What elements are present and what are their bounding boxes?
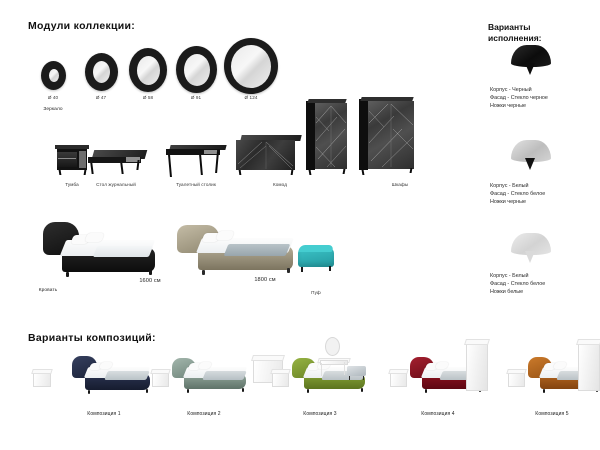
label-coffee-table: Стол журнальный <box>96 182 136 187</box>
label-pouf: Пуф <box>311 290 321 295</box>
comp3-label: Композиция 3 <box>303 411 336 417</box>
label-dresser: Комод <box>273 182 287 187</box>
page-title-modules: Модули коллекции: <box>28 20 135 32</box>
mirror-124 <box>224 38 278 94</box>
page-title-compositions: Варианты композиций: <box>28 332 156 344</box>
catalog-page: Модули коллекции: Ø 40 Ø 47 Ø 58 Ø 91 Ø … <box>0 0 600 450</box>
finishes-title-line1: Варианты <box>488 22 596 33</box>
finish-swatch-3-icon <box>508 233 554 267</box>
comp1-label: Композиция 1 <box>87 411 120 417</box>
finishes-title: Варианты исполнения: <box>488 22 596 43</box>
label-vanity: Туалетный столик <box>176 182 216 187</box>
comp4-label: Композиция 4 <box>421 411 454 417</box>
mirror-label-124: Ø 124 <box>244 95 257 100</box>
wardrobe2-glass-pattern-icon <box>368 101 414 169</box>
comp5-wardrobe-icon <box>578 342 600 391</box>
mirror-label-58: Ø 58 <box>143 95 153 100</box>
comp5-label: Композиция 5 <box>535 411 568 417</box>
mirror-91 <box>176 46 217 93</box>
mirror-label-40: Ø 40 <box>48 95 58 100</box>
finish-3-line3: Ножки белые <box>490 288 523 296</box>
comp3-bench-icon <box>347 366 366 376</box>
comp3-mirror-icon <box>325 337 340 356</box>
bed-group-label: Кровать <box>39 288 58 293</box>
label-wardrobes: Шкафы <box>392 182 408 187</box>
comp5-nightstand-icon <box>508 372 525 387</box>
comp4-wardrobe-icon <box>466 342 488 391</box>
finish-2-line3: Ножки черные <box>490 198 526 206</box>
bed-1800-size: 1800 см <box>254 277 275 283</box>
wardrobe-glass-pattern-icon <box>315 103 347 169</box>
mirror-47 <box>85 53 118 91</box>
comp4-nightstand-icon <box>390 372 407 387</box>
comp3-nightstand-icon <box>272 372 289 387</box>
mirror-40 <box>41 61 66 90</box>
mirror-58 <box>129 48 167 92</box>
mirror-label-91: Ø 91 <box>191 95 201 100</box>
bed-1600-size: 1600 см <box>139 278 160 284</box>
comp2-label: Композиция 2 <box>187 411 220 417</box>
mirror-group-label: Зеркало <box>43 107 62 112</box>
mirror-label-47: Ø 47 <box>96 95 106 100</box>
finish-1-line3: Ножки черные <box>490 102 526 110</box>
finishes-title-line2: исполнения: <box>488 33 596 44</box>
comp1-nightstand-icon <box>33 372 51 387</box>
comp2-nightstand-icon <box>152 372 169 387</box>
finish-swatch-2-icon <box>508 140 554 174</box>
dresser-pattern-icon <box>236 140 295 170</box>
label-nightstand: Тумба <box>65 182 78 187</box>
finish-swatch-1-icon <box>508 45 554 79</box>
